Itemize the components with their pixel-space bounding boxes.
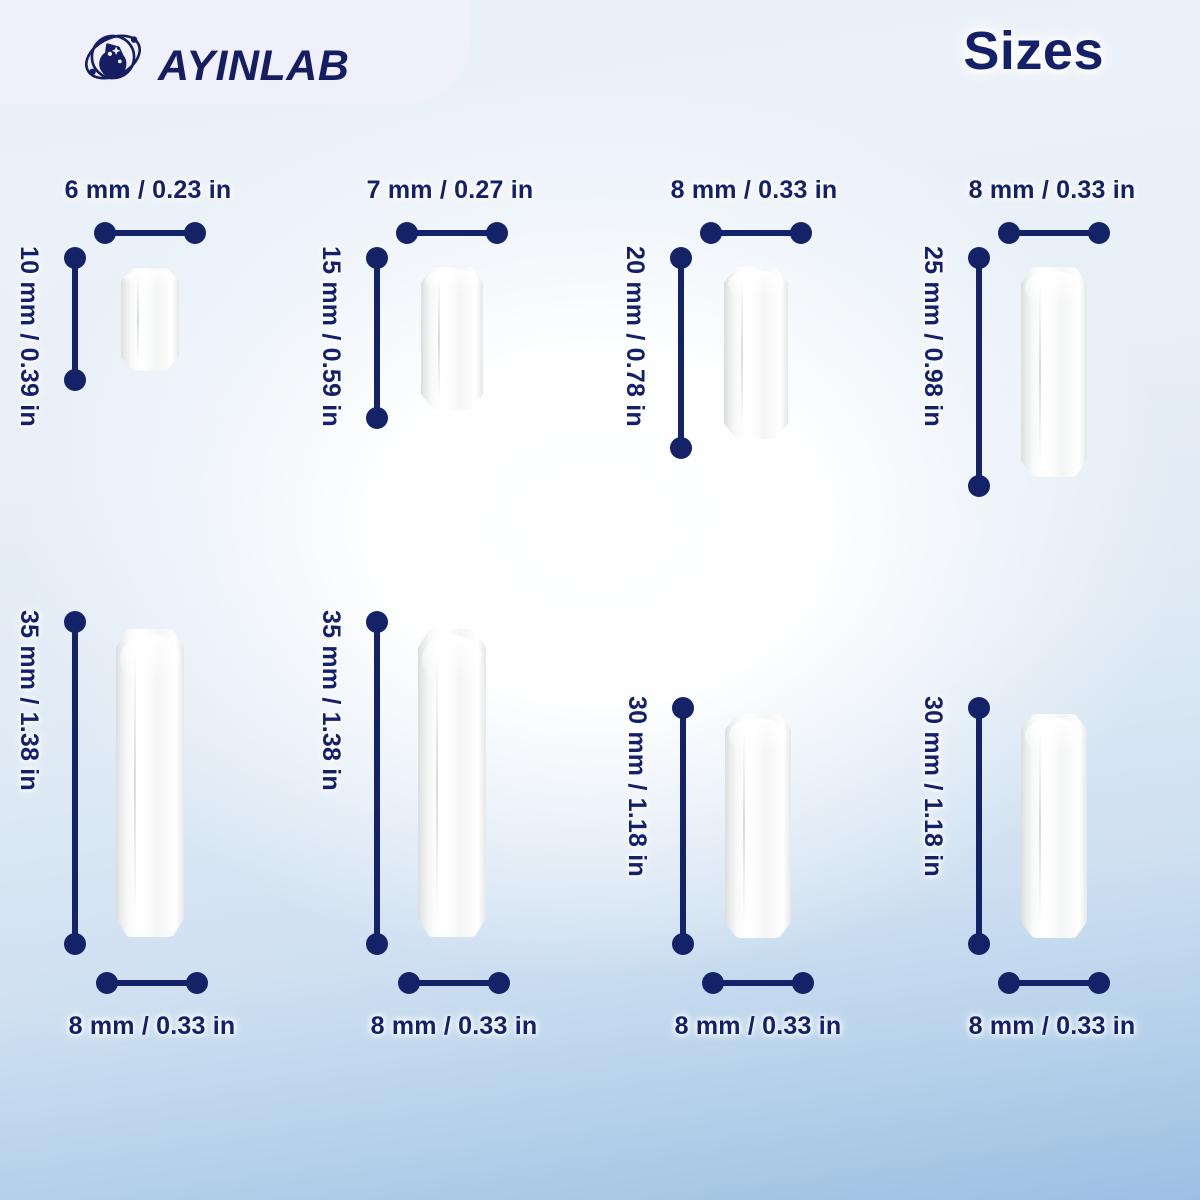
dimension-dot xyxy=(64,369,86,391)
length-dimension-line xyxy=(72,622,78,944)
flask-orbit-icon xyxy=(82,26,144,88)
width-label: 8 mm / 0.33 in xyxy=(671,176,838,205)
dimension-dot xyxy=(672,697,694,719)
width-label: 8 mm / 0.33 in xyxy=(969,176,1136,205)
dimension-dot xyxy=(96,972,118,994)
stir-bar-image xyxy=(1009,258,1099,486)
width-label: 7 mm / 0.27 in xyxy=(367,176,534,205)
dimension-dot xyxy=(700,222,722,244)
dimension-dot xyxy=(488,972,510,994)
length-label: 35 mm / 1.38 in xyxy=(14,610,43,791)
width-dimension-line xyxy=(1009,980,1099,986)
dimension-dot xyxy=(184,222,206,244)
width-dimension-line xyxy=(409,980,499,986)
dimension-dot xyxy=(968,933,990,955)
length-dimension-line xyxy=(374,622,380,944)
dimension-dot xyxy=(702,972,724,994)
width-label: 6 mm / 0.23 in xyxy=(65,176,232,205)
stir-bar-image xyxy=(105,258,195,380)
width-label: 8 mm / 0.33 in xyxy=(675,1012,842,1041)
dimension-dot xyxy=(1088,972,1110,994)
width-label: 8 mm / 0.33 in xyxy=(371,1012,538,1041)
size-item-stir-bar-8x20: 8 mm / 0.33 in 20 mm / 0.78 in xyxy=(600,170,900,550)
dimension-dot xyxy=(64,611,86,633)
dimension-dot xyxy=(1088,222,1110,244)
width-dimension-line xyxy=(713,980,803,986)
dimension-dot xyxy=(64,247,86,269)
dimension-dot xyxy=(670,247,692,269)
stir-bar-image xyxy=(407,258,497,418)
dimension-dot xyxy=(366,933,388,955)
dimension-dot xyxy=(968,247,990,269)
size-item-stir-bar-8x30-a: 30 mm / 1.18 in 8 mm / 0.33 in xyxy=(600,600,900,1060)
width-dimension-line xyxy=(107,980,197,986)
length-label: 30 mm / 1.18 in xyxy=(622,696,651,877)
dimension-dot xyxy=(672,933,694,955)
stir-bar-image xyxy=(713,708,803,944)
size-item-stir-bar-6x10: 6 mm / 0.23 in 10 mm / 0.39 in xyxy=(0,170,300,550)
width-dimension-line xyxy=(1009,230,1099,236)
size-item-stir-bar-8x35-a: 35 mm / 1.38 in 8 mm / 0.33 in xyxy=(0,600,300,1060)
width-label: 8 mm / 0.33 in xyxy=(69,1012,236,1041)
length-label: 35 mm / 1.38 in xyxy=(316,610,345,791)
size-item-stir-bar-7x15: 7 mm / 0.27 in 15 mm / 0.59 in xyxy=(300,170,600,550)
dimension-dot xyxy=(94,222,116,244)
dimension-dot xyxy=(792,972,814,994)
brand-badge: AYINLAB xyxy=(0,0,470,104)
dimension-dot xyxy=(998,972,1020,994)
length-label: 10 mm / 0.39 in xyxy=(14,246,43,427)
width-dimension-line xyxy=(711,230,801,236)
dimension-dot xyxy=(670,437,692,459)
width-dimension-line xyxy=(105,230,195,236)
length-label: 30 mm / 1.18 in xyxy=(918,696,947,877)
dimension-dot xyxy=(366,611,388,633)
dimension-dot xyxy=(396,222,418,244)
dimension-dot xyxy=(186,972,208,994)
page-title: Sizes xyxy=(963,20,1104,82)
brand-name: AYINLAB xyxy=(158,45,349,88)
length-dimension-line xyxy=(678,258,684,448)
length-dimension-line xyxy=(976,258,982,486)
length-dimension-line xyxy=(680,708,686,944)
size-item-stir-bar-8x35-b: 35 mm / 1.38 in 8 mm / 0.33 in xyxy=(300,600,600,1060)
width-label: 8 mm / 0.33 in xyxy=(969,1012,1136,1041)
dimension-dot xyxy=(486,222,508,244)
dimension-dot xyxy=(790,222,812,244)
stir-bar-image xyxy=(105,622,195,944)
dimension-dot xyxy=(64,933,86,955)
size-row-bottom: 35 mm / 1.38 in 8 mm / 0.33 in 35 mm / 1… xyxy=(0,600,1200,1060)
length-dimension-line xyxy=(976,708,982,944)
size-item-stir-bar-8x25: 8 mm / 0.33 in 25 mm / 0.98 in xyxy=(900,170,1200,550)
stir-bar-image xyxy=(1009,708,1099,944)
length-label: 15 mm / 0.59 in xyxy=(316,246,345,427)
length-dimension-line xyxy=(72,258,78,380)
width-dimension-line xyxy=(407,230,497,236)
size-item-stir-bar-8x30-b: 30 mm / 1.18 in 8 mm / 0.33 in xyxy=(900,600,1200,1060)
stir-bar-image xyxy=(711,258,801,448)
length-label: 20 mm / 0.78 in xyxy=(620,246,649,427)
dimension-dot xyxy=(968,697,990,719)
dimension-dot xyxy=(366,407,388,429)
dimension-dot xyxy=(998,222,1020,244)
infographic-canvas: AYINLAB Sizes 6 mm / 0.23 in 10 mm / 0.3… xyxy=(0,0,1200,1200)
dimension-dot xyxy=(398,972,420,994)
size-row-top: 6 mm / 0.23 in 10 mm / 0.39 in 7 mm / 0.… xyxy=(0,170,1200,550)
length-label: 25 mm / 0.98 in xyxy=(918,246,947,427)
stir-bar-image xyxy=(407,622,497,944)
dimension-dot xyxy=(968,475,990,497)
length-dimension-line xyxy=(374,258,380,418)
dimension-dot xyxy=(366,247,388,269)
